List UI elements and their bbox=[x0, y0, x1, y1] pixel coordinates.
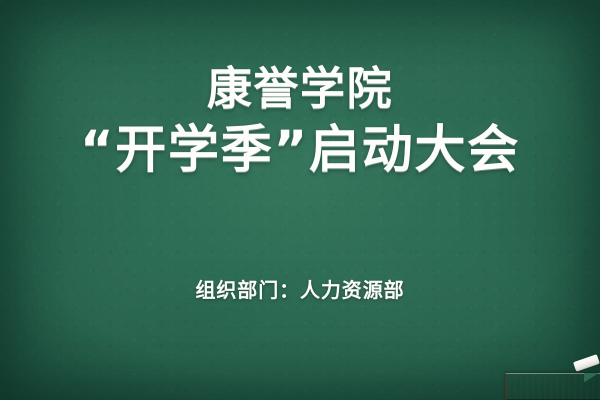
page-title-line-1: 康誉学院 bbox=[0, 62, 600, 115]
title-block: 康誉学院 “开学季”启动大会 bbox=[0, 62, 600, 181]
chalk-ledge bbox=[505, 373, 600, 400]
chalk-ledge-bevel bbox=[584, 373, 600, 383]
chalk-ledge-end bbox=[505, 373, 508, 400]
page-title-line-2: “开学季”启动大会 bbox=[0, 121, 600, 181]
subtitle-organizing-department: 组织部门：人力资源部 bbox=[0, 274, 600, 303]
slide-content: 康誉学院 “开学季”启动大会 组织部门：人力资源部 bbox=[0, 0, 600, 400]
chalkboard-slide: 康誉学院 “开学季”启动大会 组织部门：人力资源部 bbox=[0, 0, 600, 400]
